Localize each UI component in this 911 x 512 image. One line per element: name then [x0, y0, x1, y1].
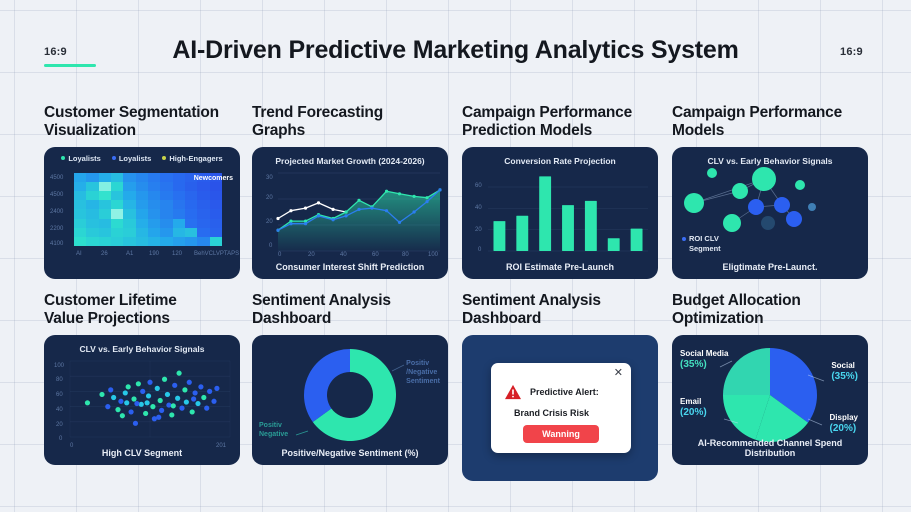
- network-node-5: [752, 167, 776, 191]
- heatmap-x-tick: A1: [126, 251, 133, 257]
- bar-y-tick: 0: [478, 247, 481, 253]
- heatmap-cell: [99, 228, 111, 237]
- scatter-point-47: [156, 415, 161, 420]
- pie-label-social-media: Social Media (35%): [680, 349, 728, 372]
- heatmap-cell: [74, 173, 86, 182]
- bar-y-tick: 60: [475, 183, 482, 189]
- heatmap-cell: [148, 191, 160, 200]
- legend-label: Loyalists: [68, 154, 101, 163]
- network-legend: ROI CLV Segment: [682, 234, 721, 253]
- legend-dot-icon: [112, 156, 116, 160]
- heatmap-cell: [197, 191, 209, 200]
- scatter-y-tick: 80: [56, 377, 63, 383]
- heatmap-cell: [210, 182, 222, 191]
- panel-title: Trend Forecasting Graphs: [252, 104, 448, 140]
- scatter-point-41: [204, 405, 209, 410]
- heatmap-cell: [74, 237, 86, 246]
- line-point: [289, 222, 292, 225]
- line-point: [425, 196, 428, 199]
- pie-label-email: Email (20%): [680, 397, 707, 420]
- heatmap-cell: [136, 173, 148, 182]
- panel-campaign-models: Campaign Performance Models CLV vs. Earl…: [672, 104, 868, 279]
- pie-leader-line: [808, 419, 822, 425]
- scatter-y-tick: 40: [56, 407, 63, 413]
- scatter-point-31: [176, 370, 181, 375]
- alert-title: Predictive Alert:: [530, 387, 599, 397]
- heatmap-cell: [160, 200, 172, 209]
- pie-label-pct: (20%): [830, 423, 857, 434]
- heatmap-cell: [185, 200, 197, 209]
- heatmap-cell: [111, 173, 123, 182]
- line-x-tick: 20: [308, 252, 315, 258]
- close-icon[interactable]: ✕: [614, 368, 623, 379]
- donut-label-positive: Positiv Negative: [259, 421, 288, 439]
- line-y-tick: 20: [266, 219, 273, 225]
- heatmap-legend: Loyalists Loyalists High-Engagers: [44, 154, 240, 163]
- scatter-point-38: [195, 401, 200, 406]
- network-legend-label: ROI CLV Segment: [689, 234, 721, 253]
- pie-label-text: Social Media: [680, 349, 728, 358]
- heatmap-cell: [210, 237, 222, 246]
- network-node-2: [732, 183, 748, 199]
- pie-label-display: Display (20%): [830, 413, 858, 436]
- page-title: AI-Driven Predictive Marketing Analytics…: [0, 36, 911, 65]
- line-y-tick: 0: [269, 243, 272, 249]
- line-point: [304, 222, 307, 225]
- line-point: [357, 208, 360, 211]
- alert-modal[interactable]: ✕ Predictive Alert: Brand Crisis Risk Wa…: [491, 363, 631, 453]
- line-point: [276, 229, 279, 232]
- scatter-point-33: [182, 387, 187, 392]
- panel-campaign-prediction: Campaign Performance Prediction Models C…: [462, 104, 658, 279]
- bar-7: [631, 229, 643, 251]
- heatmap-cell: [111, 209, 123, 218]
- scatter-point-23: [158, 398, 163, 403]
- card-sentiment-donut[interactable]: Positiv /Negative Sentiment Positiv Nega…: [252, 335, 448, 465]
- scatter-point-25: [162, 377, 167, 382]
- network-node-3: [684, 193, 704, 213]
- heatmap-cell: [86, 182, 98, 191]
- card-segmentation-heatmap[interactable]: Loyalists Loyalists High-Engagers 4500 4…: [44, 147, 240, 279]
- donut-leader-line: [296, 431, 308, 435]
- heatmap-cell: [185, 209, 197, 218]
- heatmap-cell: [210, 219, 222, 228]
- scatter-point-20: [150, 404, 155, 409]
- scatter-point-34: [184, 399, 189, 404]
- heatmap-cell: [173, 219, 185, 228]
- scatter-point-46: [144, 400, 149, 405]
- chart-caption: AI-Recommended Channel Spend Distributio…: [672, 438, 868, 458]
- heatmap-cell: [99, 237, 111, 246]
- scatter-point-37: [192, 390, 197, 395]
- legend-dot-icon: [162, 156, 166, 160]
- card-budget-pie[interactable]: Social Media (35%) Social (35%) Email (2…: [672, 335, 868, 465]
- heatmap-cell: [99, 191, 111, 200]
- line-point: [370, 206, 373, 209]
- panel-title: Customer Lifetime Value Projections: [44, 292, 240, 328]
- scatter-point-8: [120, 413, 125, 418]
- line-point: [412, 195, 415, 198]
- heatmap-cell: [185, 191, 197, 200]
- chart-caption: Eligtimate Pre-Launct.: [672, 262, 868, 272]
- scatter-point-12: [131, 396, 136, 401]
- line-point: [331, 208, 334, 211]
- heatmap-x-tick: 120: [172, 251, 182, 257]
- pie-label-text: Display: [830, 413, 858, 422]
- heatmap-cell: [136, 219, 148, 228]
- scatter-point-4: [108, 387, 113, 392]
- line-point: [276, 217, 279, 220]
- line-point: [412, 210, 415, 213]
- line-point: [304, 206, 307, 209]
- slide-canvas: 16:9 16:9 AI-Driven Predictive Marketing…: [0, 0, 911, 512]
- heatmap-cell: [111, 237, 123, 246]
- legend-label: Loyalists: [119, 154, 152, 163]
- line-x-tick: 60: [372, 252, 379, 258]
- scatter-point-6: [115, 407, 120, 412]
- heatmap-cell: [123, 219, 135, 228]
- heatmap-cell: [86, 173, 98, 182]
- heatmap-cell: [210, 191, 222, 200]
- heatmap-cell: [111, 191, 123, 200]
- panel-trend-forecasting: Trend Forecasting Graphs Projected Marke…: [252, 104, 448, 279]
- heatmap-cell: [99, 200, 111, 209]
- scatter-point-15: [139, 402, 144, 407]
- scatter-point-14: [136, 381, 141, 386]
- scatter-point-13: [133, 421, 138, 426]
- line-point: [344, 214, 347, 217]
- line-x-tick: 40: [340, 252, 347, 258]
- scatter-point-10: [126, 384, 131, 389]
- pie-label-pct: (20%): [680, 407, 707, 418]
- scatter-point-24: [159, 408, 164, 413]
- line-point: [331, 218, 334, 221]
- bar-y-tick: 40: [475, 205, 482, 211]
- scatter-y-tick: 100: [54, 363, 64, 369]
- bar-2: [516, 216, 528, 251]
- scatter-point-28: [169, 412, 174, 417]
- heatmap-x-tick: BehVCLVPTAPS: [194, 251, 239, 257]
- scatter-point-26: [165, 392, 170, 397]
- heatmap-cell: [136, 228, 148, 237]
- network-node-4: [723, 214, 741, 232]
- heatmap-cell: [111, 228, 123, 237]
- warning-button[interactable]: Wanning: [523, 425, 599, 443]
- heatmap-cell: [197, 219, 209, 228]
- scatter-point-11: [128, 409, 133, 414]
- legend-label: High-Engagers: [169, 154, 222, 163]
- panel-sentiment-donut: Sentiment Analysis Dashboard Positiv /Ne…: [252, 292, 448, 465]
- panel-sentiment-alert: Sentiment Analysis Dashboard ✕ Predictiv…: [462, 292, 658, 481]
- scatter-point-30: [175, 396, 180, 401]
- scatter-point-18: [146, 393, 151, 398]
- legend-dot-icon: [682, 237, 686, 241]
- panel-title: Budget Allocation Optimization: [672, 292, 868, 328]
- card-conversion-bar-chart[interactable]: Conversion Rate Projection 60 40 20 0 RO…: [462, 147, 658, 279]
- heatmap-cell: [74, 182, 86, 191]
- heatmap-cell: [210, 200, 222, 209]
- legend-item-loyalists-blue: Loyalists: [112, 154, 152, 163]
- panel-title: Sentiment Analysis Dashboard: [462, 292, 658, 328]
- heatmap-cell: [148, 200, 160, 209]
- heatmap-y-tick: 2400: [50, 209, 63, 215]
- line-point: [385, 190, 388, 193]
- heatmap-cell: [123, 200, 135, 209]
- scatter-point-9: [123, 390, 128, 395]
- heatmap-cell: [99, 219, 111, 228]
- line-series-forecast-white: [278, 203, 346, 219]
- line-point: [317, 214, 320, 217]
- scatter-point-29: [172, 383, 177, 388]
- line-x-tick: 80: [402, 252, 409, 258]
- heatmap-cell: [123, 228, 135, 237]
- heatmap-cell: [136, 191, 148, 200]
- heatmap-cell: [148, 182, 160, 191]
- heatmap-cell: [185, 228, 197, 237]
- chart-caption: Positive/Negative Sentiment (%): [252, 448, 448, 458]
- heatmap-cell: [123, 191, 135, 200]
- card-predictive-alert[interactable]: ✕ Predictive Alert: Brand Crisis Risk Wa…: [462, 335, 658, 481]
- heatmap-cell: [136, 182, 148, 191]
- panel-title: Sentiment Analysis Dashboard: [252, 292, 448, 328]
- network-node-7: [748, 199, 764, 215]
- heatmap-cell: [136, 200, 148, 209]
- scatter-point-42: [207, 389, 212, 394]
- network-node-11: [761, 216, 775, 230]
- heatmap-cell: [160, 209, 172, 218]
- line-point: [344, 210, 347, 213]
- legend-dot-icon: [61, 156, 65, 160]
- heatmap-cell: [197, 182, 209, 191]
- heatmap-cell: [148, 228, 160, 237]
- line-x-tick: 100: [428, 252, 438, 258]
- panel-title: Customer Segmentation Visualization: [44, 104, 240, 140]
- pie-slice-social-media: [723, 348, 770, 395]
- bar-chart-svg[interactable]: [462, 147, 658, 279]
- scatter-point-48: [171, 403, 176, 408]
- heatmap-cell: [99, 209, 111, 218]
- line-chart-svg[interactable]: [252, 147, 448, 279]
- heatmap-cell: [173, 191, 185, 200]
- heatmap-cell: [86, 228, 98, 237]
- scatter-point-22: [155, 386, 160, 391]
- network-node-9: [786, 211, 802, 227]
- scatter-point-32: [179, 405, 184, 410]
- panel-customer-lifetime-value: Customer Lifetime Value Projections CLV …: [44, 292, 240, 465]
- scatter-point-40: [201, 395, 206, 400]
- line-point: [398, 221, 401, 224]
- heatmap-cell: [160, 219, 172, 228]
- heatmap-grid[interactable]: [74, 173, 222, 246]
- chart-caption: ROI Estimate Pre-Launch: [462, 262, 658, 272]
- pie-label-social: Social (35%): [831, 361, 858, 384]
- heatmap-cell: [111, 219, 123, 228]
- heatmap-y-tick: 4100: [50, 241, 63, 247]
- scatter-point-17: [143, 411, 148, 416]
- heatmap-x-tick: 26: [101, 251, 108, 257]
- heatmap-cell: [123, 182, 135, 191]
- scatter-point-49: [191, 396, 196, 401]
- heatmap-cell: [160, 191, 172, 200]
- heatmap-cell: [86, 209, 98, 218]
- line-x-tick: 0: [278, 252, 281, 258]
- heatmap-cell: [197, 228, 209, 237]
- heatmap-x-tick: 190: [149, 251, 159, 257]
- network-node-10: [808, 203, 816, 211]
- heatmap-cell: [111, 200, 123, 209]
- chart-caption: High CLV Segment: [44, 448, 240, 458]
- heatmap-annotation: Newcomers: [194, 175, 233, 182]
- heatmap-y-tick: 4500: [50, 192, 63, 198]
- heatmap-cell: [160, 228, 172, 237]
- scatter-point-43: [211, 399, 216, 404]
- heatmap-cell: [185, 219, 197, 228]
- heatmap-cell: [148, 173, 160, 182]
- heatmap-cell: [185, 237, 197, 246]
- line-point: [357, 199, 360, 202]
- heatmap-x-tick: AI: [76, 251, 82, 257]
- scatter-point-7: [118, 399, 123, 404]
- scatter-point-5: [111, 395, 116, 400]
- warning-triangle-icon: [504, 384, 522, 400]
- network-chart-svg[interactable]: [672, 147, 868, 279]
- scatter-point-39: [198, 384, 203, 389]
- bar-6: [608, 238, 620, 251]
- heatmap-cell: [86, 237, 98, 246]
- heatmap-cell: [86, 200, 98, 209]
- bar-y-tick: 20: [475, 227, 482, 233]
- heatmap-cell: [210, 228, 222, 237]
- heatmap-cell: [74, 219, 86, 228]
- heatmap-cell: [111, 182, 123, 191]
- scatter-point-3: [105, 404, 110, 409]
- heatmap-cell: [160, 173, 172, 182]
- heatmap-cell: [173, 228, 185, 237]
- scatter-y-tick: 20: [56, 422, 63, 428]
- heatmap-cell: [173, 209, 185, 218]
- network-node-8: [774, 197, 790, 213]
- scatter-point-50: [124, 400, 129, 405]
- heatmap-cell: [123, 173, 135, 182]
- legend-item-loyalists-teal: Loyalists: [61, 154, 101, 163]
- heatmap-cell: [99, 173, 111, 182]
- heatmap-cell: [197, 209, 209, 218]
- scatter-point-45: [134, 401, 139, 406]
- heatmap-cell: [197, 237, 209, 246]
- pie-label-text: Social: [831, 361, 855, 370]
- heatmap-cell: [173, 173, 185, 182]
- heatmap-cell: [99, 182, 111, 191]
- card-clv-scatter[interactable]: CLV vs. Early Behavior Signals 100 80 60…: [44, 335, 240, 465]
- scatter-point-27: [166, 402, 171, 407]
- heatmap-cell: [160, 182, 172, 191]
- chart-caption: Consumer Interest Shift Prediction: [252, 262, 448, 272]
- panel-customer-segmentation: Customer Segmentation Visualization Loya…: [44, 104, 240, 279]
- line-point: [425, 200, 428, 203]
- card-network-graph[interactable]: CLV vs. Early Behavior Signals ROI CLV S…: [672, 147, 868, 279]
- alert-message: Brand Crisis Risk: [514, 408, 589, 418]
- heatmap-cell: [148, 209, 160, 218]
- bar-3: [539, 176, 551, 251]
- scatter-point-36: [190, 409, 195, 414]
- pie-label-pct: (35%): [680, 359, 707, 370]
- heatmap-cell: [197, 200, 209, 209]
- heatmap-cell: [136, 209, 148, 218]
- heatmap-cell: [160, 237, 172, 246]
- heatmap-cell: [210, 209, 222, 218]
- scatter-y-tick: 60: [56, 392, 63, 398]
- heatmap-cell: [185, 182, 197, 191]
- line-point: [317, 201, 320, 204]
- card-trend-line-chart[interactable]: Projected Market Growth (2024-2026) 30 2…: [252, 147, 448, 279]
- bar-4: [562, 205, 574, 251]
- heatmap-cell: [86, 191, 98, 200]
- heatmap-cell: [173, 182, 185, 191]
- heatmap-y-tick: 4500: [50, 175, 63, 181]
- heatmap-cell: [148, 219, 160, 228]
- line-y-tick: 20: [266, 195, 273, 201]
- heatmap-cell: [123, 209, 135, 218]
- bar-1: [493, 221, 505, 251]
- pie-label-pct: (35%): [831, 371, 858, 382]
- scatter-point-16: [140, 389, 145, 394]
- network-node-6: [795, 180, 805, 190]
- panel-title: Campaign Performance Prediction Models: [462, 104, 658, 140]
- scatter-y-tick: 0: [59, 436, 62, 442]
- donut-label-negative: Positiv /Negative Sentiment: [406, 359, 440, 386]
- heatmap-cell: [173, 200, 185, 209]
- heatmap-cell: [123, 237, 135, 246]
- scatter-point-35: [187, 380, 192, 385]
- line-point: [398, 192, 401, 195]
- heatmap-y-tick: 2200: [50, 226, 63, 232]
- scatter-point-19: [147, 380, 152, 385]
- heatmap-cell: [173, 237, 185, 246]
- line-point: [289, 209, 292, 212]
- scatter-chart-svg[interactable]: [44, 335, 240, 465]
- line-point: [438, 188, 441, 191]
- legend-item-high-engagers: High-Engagers: [162, 154, 222, 163]
- donut-slice-negative: [304, 349, 350, 422]
- line-point: [385, 209, 388, 212]
- heatmap-cell: [74, 200, 86, 209]
- donut-chart-svg[interactable]: [252, 335, 448, 465]
- network-node-1: [707, 168, 717, 178]
- heatmap-cell: [74, 209, 86, 218]
- scatter-point-1: [85, 400, 90, 405]
- heatmap-cell: [136, 237, 148, 246]
- pie-label-text: Email: [680, 397, 701, 406]
- heatmap-cell: [148, 237, 160, 246]
- panel-budget-allocation: Budget Allocation Optimization Social Me…: [672, 292, 868, 465]
- panel-title: Campaign Performance Models: [672, 104, 868, 140]
- scatter-point-2: [99, 392, 104, 397]
- donut-leader-line: [392, 365, 404, 371]
- bar-5: [585, 201, 597, 251]
- heatmap-cell: [74, 228, 86, 237]
- scatter-point-44: [214, 386, 219, 391]
- line-y-tick: 30: [266, 175, 273, 181]
- heatmap-cell: [74, 191, 86, 200]
- heatmap-cell: [86, 219, 98, 228]
